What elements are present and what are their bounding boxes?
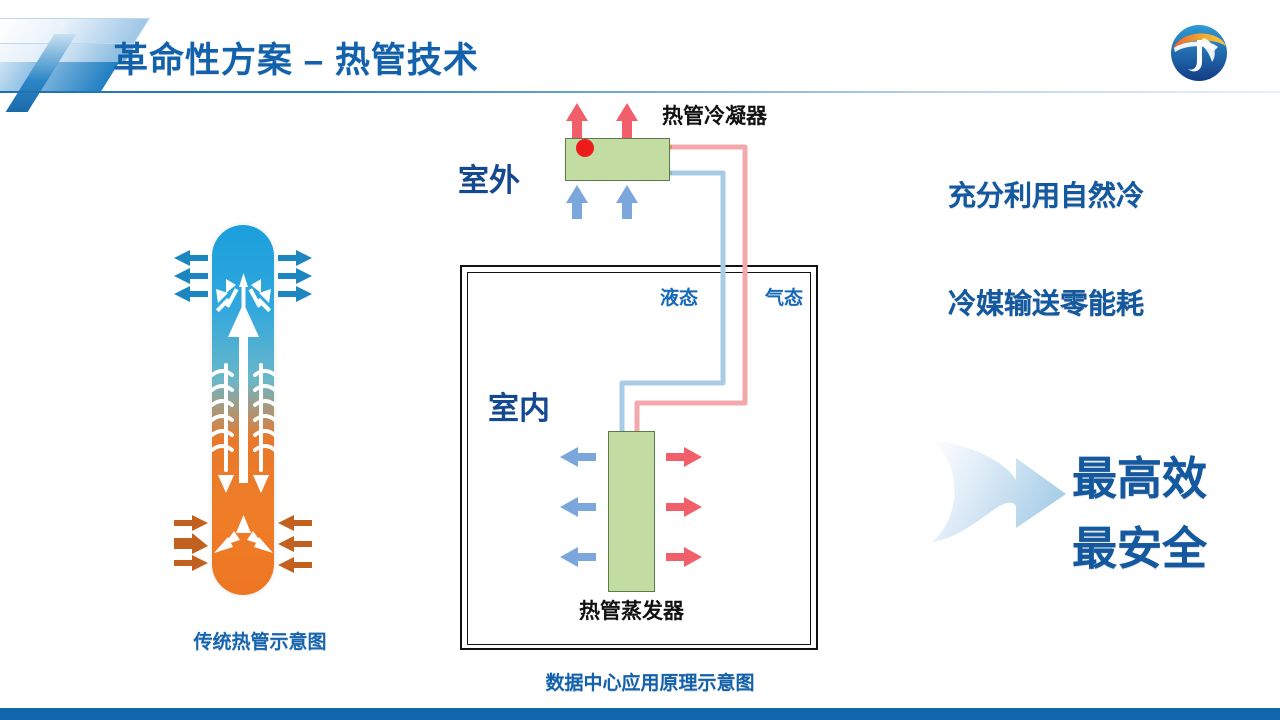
classic-heatpipe-figure [150,215,365,615]
page-title: 革命性方案 – 热管技术 [113,32,479,83]
conclusion-text-1: 最高效 [1072,442,1207,507]
label-outdoor: 室外 [458,155,520,200]
center-figure-caption: 数据中心应用原理示意图 [440,668,860,695]
header-divider [0,91,1280,93]
label-indoor: 室内 [488,383,550,428]
conclusion-text-2: 最安全 [1072,512,1207,577]
deco-shape-3 [0,62,119,92]
left-figure-caption: 传统热管示意图 [155,627,365,654]
label-liquid-state: 液态 [660,283,698,310]
slide-header: 革命性方案 – 热管技术 [0,0,1280,95]
footer-bar [0,708,1280,720]
heatpipe-arrows [150,215,365,615]
company-globe-logo [1168,22,1230,84]
condenser-marker-dot [576,139,594,157]
conclusion-arrow-icon [930,432,1070,550]
datacenter-schematic: 室外 室内 热管冷凝器 热管蒸发器 液态 气态 [440,95,860,675]
label-evaporator: 热管蒸发器 [579,595,684,625]
slide-root: 革命性方案 – 热管技术 [0,0,1280,720]
heatpipe-evaporator-unit [608,431,655,592]
benefit-point-1: 充分利用自然冷 [948,174,1144,214]
benefit-point-2: 冷媒输送零能耗 [948,282,1144,322]
label-condenser: 热管冷凝器 [662,100,767,130]
label-gas-state: 气态 [765,283,803,310]
